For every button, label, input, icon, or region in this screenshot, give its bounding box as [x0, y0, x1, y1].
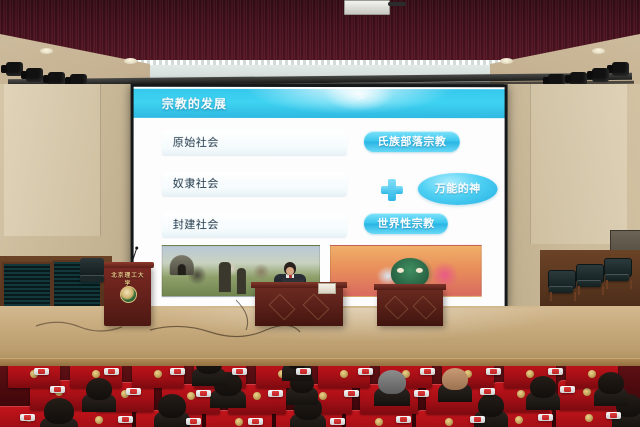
- water-bottle: [104, 368, 119, 375]
- seat-crest-emblem: [340, 370, 348, 378]
- slide-title-banner: 宗教的发展: [134, 89, 505, 118]
- university-emblem: [120, 286, 137, 303]
- chair-back: [80, 258, 104, 276]
- seat-crest-emblem: [92, 370, 100, 378]
- water-bottle: [232, 368, 247, 375]
- ceiling-projector: [344, 0, 390, 15]
- slide-pill: 万能的神: [418, 173, 498, 205]
- audience-member-head: [44, 398, 74, 424]
- audience-member-head: [530, 376, 556, 398]
- audience-member-head: [478, 394, 504, 417]
- spotlight: [26, 68, 43, 82]
- recessed-can-light: [592, 48, 605, 54]
- seat-crest-emblem: [585, 414, 593, 422]
- water-bottle: [606, 412, 621, 419]
- projection-screen-frame: 宗教的发展 原始社会奴隶社会封建社会 氏族部落宗教万能的神世界性宗教: [131, 84, 508, 310]
- figure-shape: [237, 268, 246, 294]
- left-wall-panel: [4, 84, 101, 236]
- water-bottle: [414, 390, 429, 397]
- seat-crest-emblem: [588, 370, 596, 378]
- secondary-desk: [377, 288, 443, 326]
- desk-panel-motif: [303, 294, 330, 321]
- seat-crest-emblem: [445, 418, 453, 426]
- seat-crest-emblem: [235, 418, 243, 426]
- water-bottle: [268, 390, 283, 397]
- seat-crest-emblem: [154, 370, 162, 378]
- water-bottle: [296, 368, 311, 375]
- water-bottle: [170, 368, 185, 375]
- auditorium-scene: 宗教的发展 原始社会奴隶社会封建社会 氏族部落宗教万能的神世界性宗教: [0, 0, 640, 427]
- projection-screen: 宗教的发展 原始社会奴隶社会封建社会 氏族部落宗教万能的神世界性宗教: [134, 87, 505, 307]
- projector-mount-arm: [388, 2, 406, 6]
- seat-crest-emblem: [515, 416, 523, 424]
- water-bottle: [420, 368, 435, 375]
- seat-crest-emblem: [583, 388, 591, 396]
- recessed-can-light: [124, 58, 137, 64]
- spotlight: [592, 68, 609, 82]
- audience-member-head: [86, 378, 112, 400]
- floor-sheen: [150, 308, 570, 342]
- audience-member-head: [378, 370, 406, 394]
- slide-pill: 氏族部落宗教: [364, 131, 460, 152]
- water-bottle: [480, 388, 495, 395]
- seat-crest-emblem: [253, 392, 261, 400]
- presenter-face: [286, 267, 294, 275]
- water-bottle: [50, 386, 65, 393]
- seat-crest-emblem: [375, 418, 383, 426]
- desk-panel-motif: [269, 294, 296, 321]
- slide-pill: 世界性宗教: [364, 213, 448, 234]
- stage-chair: [604, 258, 630, 288]
- water-bottle: [34, 368, 49, 375]
- chair-legs: [606, 280, 632, 289]
- water-bottle: [396, 416, 411, 423]
- slide-row: 奴隶社会: [162, 172, 347, 196]
- water-bottle: [548, 368, 563, 375]
- water-bottle: [344, 390, 359, 397]
- name-plate: [318, 283, 336, 294]
- water-bottle: [118, 416, 133, 423]
- desk-panel-motif: [384, 295, 408, 319]
- seat-crest-emblem: [95, 416, 103, 424]
- water-bottle: [196, 390, 211, 397]
- podium: 北京理工大学: [104, 266, 151, 326]
- recessed-can-light: [40, 48, 53, 54]
- water-bottle: [538, 414, 553, 421]
- seat-crest-emblem: [187, 392, 195, 400]
- water-bottle: [20, 414, 35, 421]
- water-bottle: [186, 418, 201, 425]
- audience-member-head: [158, 394, 186, 418]
- figure-shape: [219, 262, 231, 292]
- plus-symbol-icon: [381, 179, 403, 201]
- stage-chair: [80, 258, 104, 288]
- water-bottle: [560, 386, 575, 393]
- slide-row: 原始社会: [162, 131, 347, 155]
- stage-curtain: [0, 0, 640, 62]
- stage-chair: [548, 270, 574, 300]
- water-bottle: [330, 418, 345, 425]
- hut-shape: [170, 255, 194, 275]
- water-bottle: [248, 418, 263, 425]
- water-bottle: [486, 368, 501, 375]
- seat-crest-emblem: [517, 390, 525, 398]
- audience-seating: [0, 366, 640, 427]
- stage-chair: [576, 264, 602, 294]
- seat-crest-emblem: [319, 392, 327, 400]
- chair-legs: [578, 286, 604, 295]
- water-bottle: [126, 388, 141, 395]
- desk-top: [374, 284, 446, 290]
- audience-member-head: [442, 368, 468, 390]
- spotlight: [612, 62, 629, 76]
- podium-top: [101, 262, 154, 268]
- water-bottle: [470, 416, 485, 423]
- right-wall-panel: [530, 84, 627, 244]
- podium-university-name: 北京理工大学: [108, 271, 148, 287]
- chair-seat: [80, 275, 104, 282]
- seat-crest-emblem: [526, 370, 534, 378]
- recessed-can-light: [500, 58, 513, 64]
- slide-title: 宗教的发展: [162, 95, 227, 112]
- water-bottle: [358, 368, 373, 375]
- desk-panel-motif: [412, 295, 436, 319]
- audience-member-head: [598, 372, 624, 394]
- slide-row: 封建社会: [162, 213, 347, 237]
- chair-legs: [550, 292, 576, 301]
